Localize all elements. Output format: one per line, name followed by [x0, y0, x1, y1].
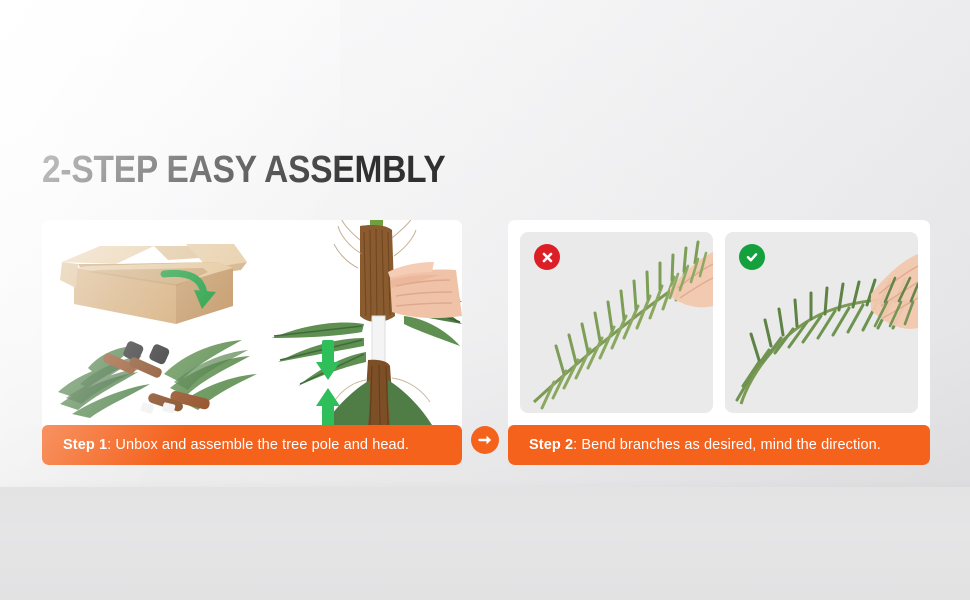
page-title: 2-STEP EASY ASSEMBLY	[42, 148, 445, 192]
step-2-label: Step 2	[529, 437, 573, 453]
hand-icon	[388, 262, 462, 318]
bend-correct-panel	[725, 232, 918, 413]
pole-assembly-illustration	[264, 220, 462, 425]
palm-branches-icon	[46, 318, 261, 423]
step-2-banner: Step 2: Bend branches as desired, mind t…	[508, 425, 930, 465]
unboxing-illustration	[42, 220, 268, 425]
step-1-card: Step 1: Unbox and assemble the tree pole…	[42, 220, 462, 465]
step-2-banner-text: Step 2: Bend branches as desired, mind t…	[529, 437, 881, 453]
palm-tree-pole-icon	[264, 220, 462, 425]
promo-page: 2-STEP EASY ASSEMBLY	[0, 0, 970, 600]
arrow-right-circle-icon	[471, 426, 499, 454]
step-2-text: Bend branches as desired, mind the direc…	[577, 437, 881, 453]
step-1-image	[42, 220, 462, 425]
status-badge-incorrect	[534, 244, 560, 270]
step-1-banner: Step 1: Unbox and assemble the tree pole…	[42, 425, 462, 465]
status-badge-correct	[739, 244, 765, 270]
bend-incorrect-panel	[520, 232, 713, 413]
step-2-image	[508, 220, 930, 425]
step-1-label: Step 1	[63, 437, 107, 453]
step-2-card: Step 2: Bend branches as desired, mind t…	[508, 220, 930, 465]
step-1-text: Unbox and assemble the tree pole and hea…	[111, 437, 409, 453]
step-1-banner-text: Step 1: Unbox and assemble the tree pole…	[63, 437, 409, 453]
